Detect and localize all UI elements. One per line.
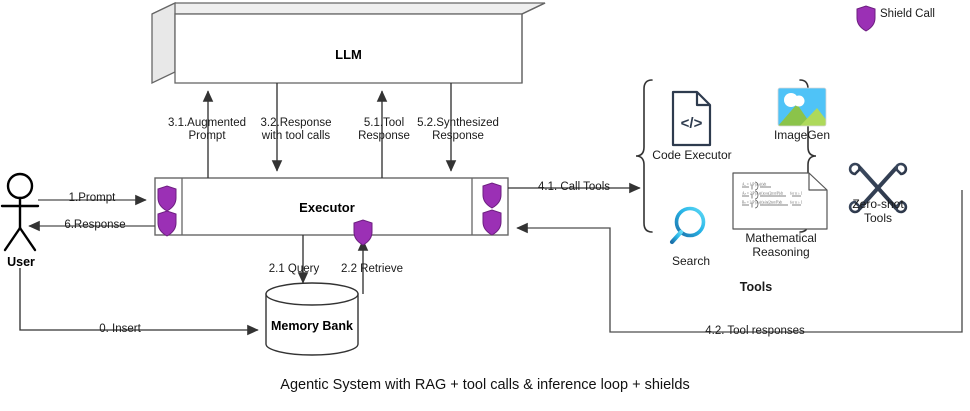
llm-label: LLM [175, 47, 522, 62]
edge-label-tool-responses: 4.2. Tool responses [690, 325, 820, 338]
svg-text:Bₙ = 2/P ∫ₚ s(t)sin(2nπt/P)dt: Bₙ = 2/P ∫ₚ s(t)sin(2nπt/P)dt [742, 201, 782, 205]
shield-icon-legend [857, 6, 875, 31]
tool-label-code-executor: Code Executor [645, 148, 739, 162]
memory-bank-label: Memory Bank [262, 319, 362, 333]
tool-label-imagegen: ImageGen [766, 128, 838, 142]
edge-label-query: 2.1 Query [258, 263, 330, 276]
code-document-icon: </> [673, 92, 710, 145]
formula-document-icon: A₀ = 1/P ∫ₚ s(t)dt Aₙ = 2/P ∫ₚ s(t)cos(2… [733, 173, 827, 229]
edge-label-prompt: 1.Prompt [48, 192, 136, 205]
diagram-canvas: </> A₀ = 1/P ∫ₚ s(t)dt [0, 0, 970, 411]
svg-text:for n ≥ 1: for n ≥ 1 [790, 192, 803, 196]
svg-text:</>: </> [681, 115, 703, 132]
user-stick-figure [2, 174, 38, 250]
llm-box [152, 3, 545, 83]
legend-label: Shield Call [880, 8, 960, 21]
executor-label: Executor [182, 200, 472, 215]
tool-label-zero-shot: Zero-shot Tools [840, 197, 916, 225]
tool-label-search: Search [658, 254, 724, 268]
diagram-caption: Agentic System with RAG + tool calls & i… [0, 377, 970, 393]
edge-label-insert: 0. Insert [75, 323, 165, 336]
svg-text:A₀ = 1/P ∫ₚ s(t)dt: A₀ = 1/P ∫ₚ s(t)dt [742, 183, 766, 187]
user-label: User [0, 255, 42, 269]
tool-label-math-reasoning: Mathematical Reasoning [734, 231, 828, 259]
edge-insert [20, 268, 258, 330]
shield-icon-memory [354, 220, 372, 245]
edge-label-user-response: 6.Response [48, 219, 142, 232]
svg-text:for n ≥ 1: for n ≥ 1 [790, 201, 803, 205]
image-icon [778, 88, 831, 126]
tools-group-label: Tools [726, 280, 786, 294]
edge-label-synth-response: 5.2.Synthesized Response [394, 117, 522, 143]
magnifier-icon [672, 209, 704, 243]
edge-label-retrieve: 2.2 Retrieve [331, 263, 413, 276]
edge-label-call-tools: 4.1. Call Tools [519, 181, 629, 194]
svg-text:Aₙ = 2/P ∫ₚ s(t)cos(2nπt/P)dt: Aₙ = 2/P ∫ₚ s(t)cos(2nπt/P)dt [742, 192, 783, 196]
